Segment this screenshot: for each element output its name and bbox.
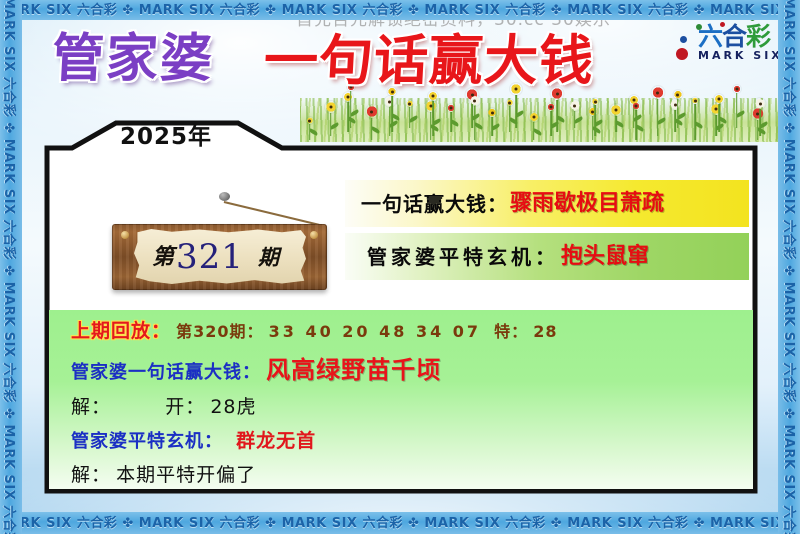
open-value: 28虎 [210, 396, 256, 418]
phrase-answer: 风高绿野苗千顷 [266, 356, 441, 384]
banner-answer-1: 抱头鼠窜 [561, 246, 649, 268]
page-title-part1: 管家婆 [51, 33, 216, 85]
replay-label: 上期回放： [71, 320, 171, 342]
issue-plaque: 第 321 期 [112, 198, 327, 290]
replay-special-label: 特： [494, 322, 528, 341]
border-pattern-text: MARK SIX 六合彩 ✤ MARK SIX 六合彩 ✤ MARK SIX 六… [0, 1, 800, 20]
explanation-label-2: 解： [71, 464, 111, 486]
border-left: MARK SIX 六合彩 ✤ MARK SIX 六合彩 ✤ MARK SIX 六… [0, 0, 22, 534]
explanation-label-1: 解： [71, 396, 111, 418]
banner-row-0: 一句话赢大钱： 骤雨歇极目萧疏 [345, 180, 749, 227]
phrase-label: 管家婆一句话赢大钱： [71, 362, 261, 383]
screw-icon [121, 231, 129, 239]
explanation-row-1: 解： 开： 28虎 [71, 398, 257, 417]
open-label: 开： [165, 396, 205, 418]
nail-icon [219, 192, 230, 201]
card-inner: 第 321 期 一句话赢大钱： 骤雨歇极目萧疏 管家婆平特玄机： 抱头鼠窜 [47, 150, 755, 491]
plaque-board: 第 321 期 [112, 224, 327, 290]
replay-numbers: 33 40 20 48 34 07 [269, 322, 481, 341]
replay-special-value: 28 [533, 322, 557, 341]
border-bottom: MARK SIX 六合彩 ✤ MARK SIX 六合彩 ✤ MARK SIX 六… [0, 512, 800, 534]
border-right: MARK SIX 六合彩 ✤ MARK SIX 六合彩 ✤ MARK SIX 六… [778, 0, 800, 534]
explanation-row-2: 解： 本期平特开偏了 [71, 466, 256, 485]
phrase-row: 管家婆一句话赢大钱： 风高绿野苗千顷 [71, 358, 441, 382]
replay-issue: 第320期： [176, 322, 263, 341]
plaque-cord-right [224, 201, 320, 225]
banner-row-1: 管家婆平特玄机： 抱头鼠窜 [345, 233, 749, 280]
pingte-answer: 群龙无首 [236, 430, 316, 452]
border-top: MARK SIX 六合彩 ✤ MARK SIX 六合彩 ✤ MARK SIX 六… [0, 0, 800, 20]
banner-label-1: 管家婆平特玄机： [367, 247, 559, 267]
border-pattern-text: MARK SIX 六合彩 ✤ MARK SIX 六合彩 ✤ MARK SIX 六… [778, 0, 798, 534]
screw-icon [310, 231, 318, 239]
replay-row: 上期回放： 第320期： 33 40 20 48 34 07 特： 28 [71, 322, 558, 341]
issue-number: 321 [176, 240, 244, 274]
border-pattern-text: MARK SIX 六合彩 ✤ MARK SIX 六合彩 ✤ MARK SIX 六… [0, 514, 800, 534]
lottery-poster: 管家婆 一句话赢大钱 首充百元解锁绝密资料，30.cc 30娱乐 澳門 六合彩 … [0, 0, 800, 534]
pingte-row: 管家婆平特玄机： 群龙无首 [71, 432, 316, 451]
poster-header: 管家婆 一句话赢大钱 [22, 20, 778, 120]
explanation-text-2: 本期平特开偏了 [116, 464, 256, 486]
logo-dot-icon [680, 36, 687, 43]
banner-label-0: 一句话赢大钱： [361, 194, 508, 214]
banner-answer-0: 骤雨歇极目萧疏 [510, 193, 664, 215]
plaque-paper: 第 321 期 [134, 229, 306, 284]
border-pattern-text: MARK SIX 六合彩 ✤ MARK SIX 六合彩 ✤ MARK SIX 六… [0, 0, 18, 534]
logo-name-cn: 六合彩 [698, 24, 770, 49]
pingte-label: 管家婆平特玄机： [71, 431, 223, 452]
logo-name-en: MARK SIX [698, 50, 783, 61]
issue-prefix: 第 [152, 246, 174, 268]
year-label: 2025年 [120, 126, 212, 149]
page-title-part2: 一句话赢大钱 [263, 34, 596, 88]
logo-dot-icon [676, 48, 688, 60]
main-card: 2025年 第 321 期 一句话赢大钱： [42, 118, 760, 496]
issue-suffix: 期 [258, 246, 279, 267]
results-panel: 上期回放： 第320期： 33 40 20 48 34 07 特： 28 管家婆… [49, 310, 753, 489]
